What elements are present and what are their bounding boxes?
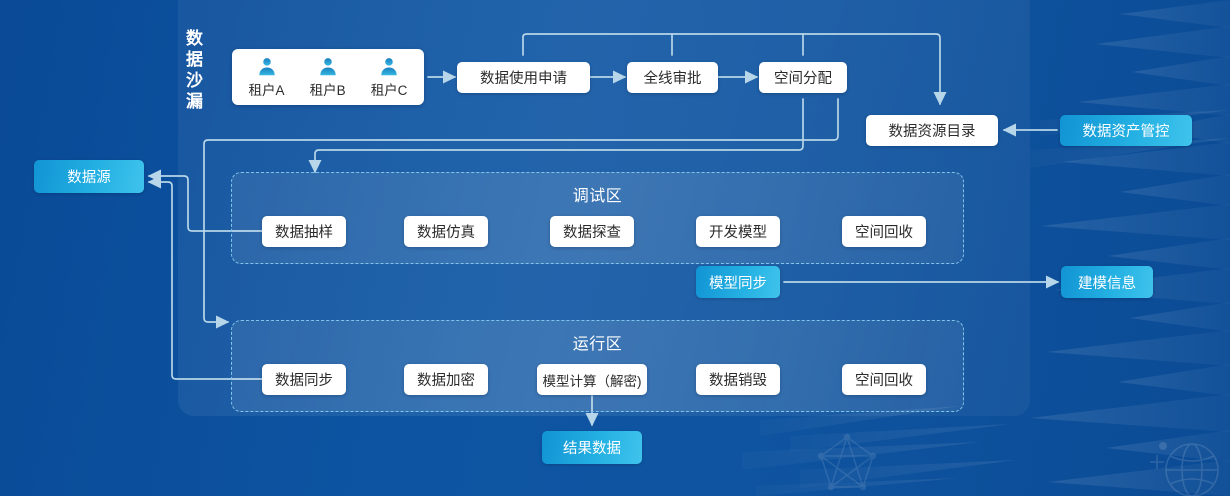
node-data-resource-catalog[interactable]: 数据资源目录 [866,115,998,146]
node-model-compute-decrypt[interactable]: 模型计算（解密) [537,364,647,395]
node-data-destruction[interactable]: 数据销毁 [696,364,780,395]
node-space-reclaim-runtime[interactable]: 空间回收 [842,364,926,395]
tenant-label: 租户A [249,79,285,99]
node-data-source[interactable]: 数据源 [34,160,144,193]
node-result-data[interactable]: 结果数据 [542,431,642,464]
node-data-asset-control[interactable]: 数据资产管控 [1060,115,1192,146]
node-data-exploration[interactable]: 数据探查 [550,216,634,247]
node-data-simulation[interactable]: 数据仿真 [404,216,488,247]
node-space-allocation[interactable]: 空间分配 [759,62,847,93]
node-data-sync[interactable]: 数据同步 [262,364,346,395]
user-icon [378,56,400,78]
diagram-canvas: 数据沙漏 租户A 租户B 租户C 数据使 [0,0,1230,496]
node-data-usage-request[interactable]: 数据使用申请 [457,62,590,93]
node-full-line-approval[interactable]: 全线审批 [627,62,718,93]
user-icon [256,56,278,78]
tenant-item[interactable]: 租户C [371,56,408,99]
user-icon [317,56,339,78]
node-develop-model[interactable]: 开发模型 [696,216,780,247]
zone-runtime-title: 运行区 [232,330,963,354]
node-modeling-info[interactable]: 建模信息 [1061,266,1153,298]
tenant-label: 租户C [371,79,408,99]
node-data-sampling[interactable]: 数据抽样 [262,216,346,247]
zone-debug-title: 调试区 [232,182,963,206]
tenant-label: 租户B [310,79,346,99]
tenant-group: 租户A 租户B 租户C [232,49,424,105]
page-title: 数据沙漏 [183,28,207,112]
tenant-item[interactable]: 租户B [310,56,346,99]
node-model-sync[interactable]: 模型同步 [696,266,780,298]
node-space-reclaim-debug[interactable]: 空间回收 [842,216,926,247]
tenant-item[interactable]: 租户A [249,56,285,99]
node-data-encryption[interactable]: 数据加密 [404,364,488,395]
